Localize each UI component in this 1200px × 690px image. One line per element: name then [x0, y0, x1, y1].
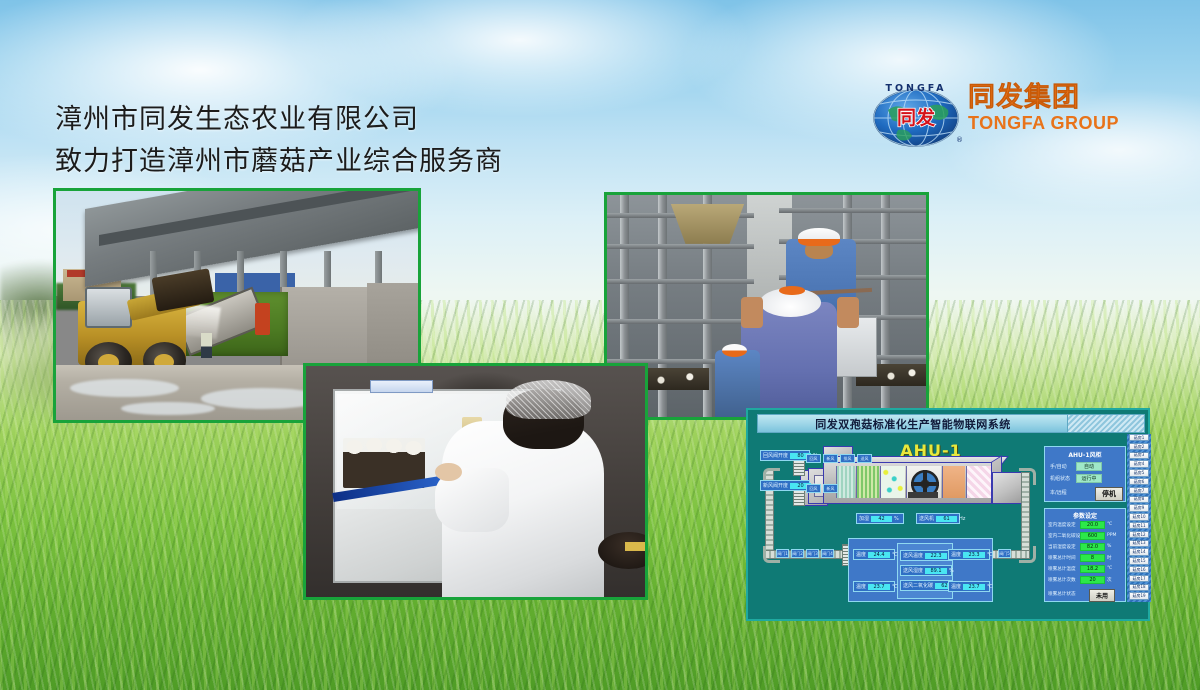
control-label: 加湿: [857, 515, 871, 522]
setting-unit: ℃: [1105, 522, 1112, 527]
ahu-outlet-box: [992, 472, 1022, 504]
valve-tag[interactable]: 阀门2: [791, 549, 804, 558]
sensor-label: 送风温度: [901, 552, 925, 559]
setting-unit: PPM: [1105, 533, 1117, 538]
sensor-value: 22.3: [925, 553, 947, 559]
room-button-1[interactable]: 菇房1: [1129, 434, 1149, 441]
room-button-16[interactable]: 菇房16: [1129, 566, 1149, 573]
brand-logo: 同发 TONGFA ® 同发集团 TONGFA GROUP: [868, 78, 1128, 150]
valve-tag[interactable]: 阀门3: [806, 549, 819, 558]
sensor-unit: ℃: [985, 584, 995, 590]
ahu-prefilter-section: [836, 466, 855, 498]
room-temperature-sensor: 温度 24.4 ℃: [853, 549, 895, 560]
cabinet-row-label: 本/远程: [1050, 489, 1076, 496]
cabinet-row-label: 手/自动: [1050, 463, 1076, 470]
logo-chinese-name: 同发集团: [968, 82, 1128, 112]
scada-iot-panel[interactable]: 同发双孢菇标准化生产智能物联网系统 AHU-1 回风: [746, 408, 1150, 621]
supply-air-sensor-group: 送风温度 22.3 ℃ 送风湿度 89.1 % 送风二氧化碳 620 PPM: [897, 543, 953, 599]
room-button-13[interactable]: 菇房13: [1129, 540, 1149, 547]
valve-tag[interactable]: 阀门1: [776, 549, 789, 558]
sensor-label: 送风湿度: [901, 567, 925, 574]
spray-state-button[interactable]: 未用: [1089, 589, 1115, 602]
ahu-cooling-coil-section: [856, 466, 879, 498]
scada-title: 同发双孢菇标准化生产智能物联网系统: [757, 414, 1069, 433]
setting-humidity[interactable]: 当前湿度设定 82.0 %: [1048, 542, 1124, 551]
setting-label: 室内二氧化碳设定: [1048, 533, 1080, 539]
setting-value[interactable]: 600: [1080, 532, 1105, 540]
photo-worker-cap: [798, 228, 839, 246]
valve-tag[interactable]: 阀门4: [821, 549, 834, 558]
photo-loader-cab: [85, 287, 132, 328]
supply-fan-control[interactable]: 送风机 61 Hz: [916, 513, 960, 524]
control-unit: %: [892, 516, 901, 522]
room-temperature-sensor: 温度 23.3 ℃: [948, 549, 990, 560]
stop-machine-button[interactable]: 停机: [1095, 487, 1123, 501]
room-button-19[interactable]: 菇房19: [1129, 592, 1149, 599]
room-button-15[interactable]: 菇房15: [1129, 557, 1149, 564]
sensor-unit: %: [947, 568, 956, 574]
room-temperature-sensor: 温度 23.7 ℃: [948, 581, 990, 592]
valve-tag[interactable]: 阀门5: [998, 549, 1011, 558]
sensor-label: 送风二氧化碳: [901, 582, 935, 589]
sensor-readout-panel: 送风温度 22.3 ℃ 送风湿度 89.1 % 送风二氧化碳 620 PPM 温…: [848, 538, 993, 602]
photo-mushroom-growing-racks: [604, 192, 929, 420]
pipe-elbow: [1019, 546, 1036, 563]
photo-hood-label-plate: [370, 380, 433, 394]
photo-rack-shelf: [607, 319, 754, 324]
photo-stool-item: [625, 542, 645, 551]
cabinet-mode-row: 手/自动 自动: [1050, 462, 1122, 471]
setting-spray-total-time[interactable]: 喷雾总计时间 8 时: [1048, 553, 1124, 562]
setting-label: 喷雾总计次数: [1048, 577, 1080, 583]
company-name-line: 漳州市同发生态农业有限公司: [55, 98, 675, 140]
room-button-14[interactable]: 菇房14: [1129, 548, 1149, 555]
setting-label: 喷雾总计时间: [1048, 555, 1080, 561]
sensor-label: 温度: [854, 583, 868, 590]
fresh-air-damper-control[interactable]: 新风阀开度 20 %: [760, 480, 810, 491]
humidifier-control[interactable]: 加湿 42 %: [856, 513, 904, 524]
sensor-value: 89.1: [925, 568, 947, 574]
setting-unit: ℃: [1105, 566, 1112, 571]
control-label: 送风机: [917, 515, 936, 522]
sensor-value: 23.3: [963, 552, 985, 558]
damper-tag[interactable]: 排风: [840, 454, 855, 463]
damper-tag[interactable]: 送风: [857, 454, 872, 463]
control-label: 新风阀开度: [761, 482, 790, 489]
svg-text:TONGFA: TONGFA: [885, 83, 946, 94]
svg-text:®: ®: [956, 136, 963, 144]
cabinet-title: AHU-1风柜: [1045, 450, 1125, 459]
globe-icon: 同发 TONGFA ®: [868, 80, 964, 148]
scada-title-stripe: [1067, 414, 1145, 433]
setting-value[interactable]: 8: [1080, 554, 1105, 562]
setting-room-temperature[interactable]: 室内温度设定 20.0 ℃: [1048, 520, 1124, 529]
setting-label: 喷雾总计温度: [1048, 566, 1080, 572]
logo-english-name: TONGFA GROUP: [968, 112, 1128, 134]
room-button-18[interactable]: 菇房18: [1129, 584, 1149, 591]
damper-tag[interactable]: 新风: [823, 454, 838, 463]
photo-rack-shelf: [607, 279, 754, 284]
logo-wordmark: 同发集团 TONGFA GROUP: [968, 82, 1128, 134]
setting-unit: %: [1105, 544, 1111, 549]
cabinet-row-value: 运行中: [1076, 474, 1102, 483]
sensor-label: 温度: [949, 551, 963, 558]
photo-rack-shelf: [607, 244, 754, 249]
setting-spray-count[interactable]: 喷雾总计次数 20 次: [1048, 575, 1124, 584]
settings-title: 参数设定: [1045, 511, 1125, 520]
sensor-label: 温度: [854, 551, 868, 558]
room-button-5[interactable]: 菇房5: [1129, 469, 1149, 476]
photo-worker-arm: [741, 297, 763, 328]
sensor-label: 温度: [949, 583, 963, 590]
ahu-final-filter-section: [966, 466, 991, 498]
sensor-value: 23.7: [963, 584, 985, 590]
photo-cap-stripe: [779, 286, 805, 295]
setting-label: 当前湿度设定: [1048, 544, 1080, 550]
setting-value[interactable]: 82.0: [1080, 543, 1105, 551]
room-button-12[interactable]: 菇房12: [1129, 531, 1149, 538]
fan-base: [908, 492, 938, 498]
room-button-4[interactable]: 菇房4: [1129, 460, 1149, 467]
setting-unit: 次: [1105, 577, 1112, 583]
setting-spray-temperature[interactable]: 喷雾总计温度 18.2 ℃: [1048, 564, 1124, 573]
cabinet-row-value: 自动: [1076, 462, 1102, 471]
ahu-humidifier-section: [880, 466, 905, 498]
damper-tag[interactable]: 新风: [823, 484, 838, 493]
damper-tag[interactable]: 回风: [806, 484, 821, 493]
room-button-11[interactable]: 菇房11: [1129, 522, 1149, 529]
control-unit: Hz: [957, 516, 967, 522]
room-button-3[interactable]: 菇房3: [1129, 452, 1149, 459]
sensor-value: 23.7: [868, 584, 890, 590]
setting-value[interactable]: 20: [1080, 576, 1105, 584]
room-navigation-list[interactable]: 菇房1 菇房2 菇房3 菇房4 菇房5 菇房6 菇房7 菇房8 菇房9 菇房10…: [1129, 434, 1149, 602]
svg-text:同发: 同发: [897, 106, 936, 129]
room-button-9[interactable]: 菇房9: [1129, 504, 1149, 511]
setting-label: 喷雾总计状态: [1048, 591, 1080, 597]
cabinet-row-label: 机组状态: [1050, 475, 1076, 482]
room-button-8[interactable]: 菇房8: [1129, 496, 1149, 503]
sensor-unit: ℃: [890, 552, 900, 558]
room-button-10[interactable]: 菇房10: [1129, 513, 1149, 520]
photo-worker: [201, 333, 212, 358]
ahu-heater-section: [942, 466, 965, 498]
ahu-cabinet-panel: AHU-1风柜 手/自动 自动 机组状态 运行中 本/远程 停机: [1044, 446, 1126, 502]
photo-machine-detail: [255, 303, 269, 335]
damper-tag[interactable]: 回风: [806, 454, 821, 463]
photo-puddle: [70, 379, 179, 397]
slogan-line: 致力打造漳州市蘑菇产业综合服务商: [55, 140, 675, 182]
setting-room-co2[interactable]: 室内二氧化碳设定 600 PPM: [1048, 531, 1124, 540]
setting-unit: 时: [1105, 555, 1112, 561]
photo-laboratory-clean-bench: [303, 363, 648, 600]
photo-worker-arm: [837, 297, 859, 328]
return-air-damper-control[interactable]: 回风阀开度 80 %: [760, 450, 810, 461]
pipe-elbow: [1019, 468, 1036, 485]
photo-hair-net: [506, 380, 591, 419]
room-button-7[interactable]: 菇房7: [1129, 487, 1149, 494]
photo-rack-shelf: [779, 208, 926, 213]
supply-air-temperature: 送风温度 22.3 ℃: [900, 550, 952, 561]
room-button-6[interactable]: 菇房6: [1129, 478, 1149, 485]
cabinet-status-row: 机组状态 运行中: [1050, 474, 1122, 483]
poster-canvas: 漳州市同发生态农业有限公司 致力打造漳州市蘑菇产业综合服务商: [0, 0, 1200, 690]
sensor-unit: ℃: [985, 552, 995, 558]
setting-value[interactable]: 20.0: [1080, 521, 1105, 529]
room-button-2[interactable]: 菇房2: [1129, 443, 1149, 450]
room-temperature-sensor: 温度 23.7 ℃: [853, 581, 895, 592]
supply-air-co2: 送风二氧化碳 620 PPM: [900, 580, 952, 591]
setting-label: 室内温度设定: [1048, 522, 1080, 528]
sensor-value: 24.4: [868, 552, 890, 558]
room-button-17[interactable]: 菇房17: [1129, 575, 1149, 582]
setting-value[interactable]: 18.2: [1080, 565, 1105, 573]
control-value[interactable]: 42: [871, 516, 892, 522]
supply-air-humidity: 送风湿度 89.1 %: [900, 565, 952, 576]
photo-worker-crouching: [715, 350, 760, 417]
sensor-unit: ℃: [890, 584, 900, 590]
parameter-settings-panel: 参数设定 室内温度设定 20.0 ℃ 室内二氧化碳设定 600 PPM 当前湿度…: [1044, 508, 1126, 602]
control-value[interactable]: 61: [936, 516, 957, 522]
control-label: 回风阀开度: [761, 452, 790, 459]
page-title: 漳州市同发生态农业有限公司 致力打造漳州市蘑菇产业综合服务商: [55, 98, 675, 182]
